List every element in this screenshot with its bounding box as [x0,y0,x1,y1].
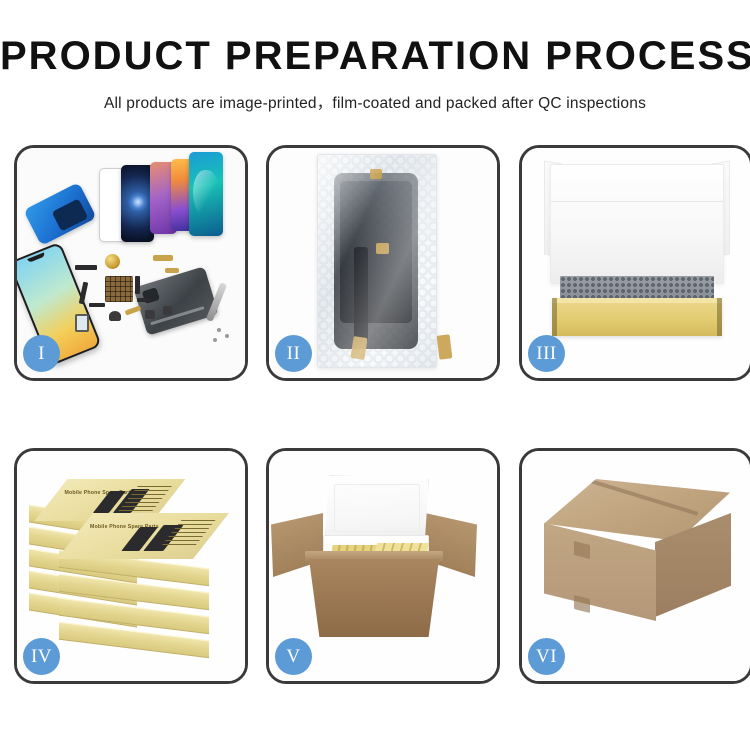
step-badge-2: II [275,335,312,372]
step-badge-4: IV [23,638,60,675]
flex-cable-1-icon [153,255,173,261]
part-bar-2-icon [79,282,88,305]
step-panel-2[interactable]: II [266,145,500,381]
part-bar-3-icon [89,303,105,307]
bubble-bag-icon [317,154,437,368]
part-bar-1-icon [75,265,97,270]
foam-lid-icon [325,475,429,541]
connector-icon [75,314,89,332]
step-badge-5: V [275,638,312,675]
white-foam-sheet-icon [550,164,724,284]
carton-body-icon [309,559,439,637]
step-panel-1[interactable]: I [14,145,248,381]
small-chip-2-icon [109,311,121,321]
chip-grid-icon [105,276,133,302]
part-bar-4-icon [135,276,140,294]
step-badge-1: I [23,335,60,372]
step-badge-3: III [528,335,565,372]
page-subtitle: All products are image-printed，film-coat… [0,91,750,113]
step-badge-6: VI [528,638,565,675]
flex-cable-3-icon [125,305,142,315]
step-panel-4[interactable]: Mobile Phone Spare Parts Mobile Phone Sp… [14,448,248,684]
step-panel-3[interactable]: III [519,145,750,381]
carton-front-face-icon [544,523,656,621]
step-panel-5[interactable]: V [266,448,500,684]
small-chip-1-icon [145,310,155,319]
page-title: PRODUCT PREPARATION PROCESS [0,36,750,76]
screw-3-icon [213,338,217,342]
bag-gloss-overlay [318,155,436,367]
poster-root: PRODUCT PREPARATION PROCESS All products… [0,0,750,750]
header: PRODUCT PREPARATION PROCESS All products… [0,36,750,113]
screw-1-icon [217,328,221,332]
carton-tape-2-icon [574,595,590,613]
phone-teal-icon [189,152,223,236]
process-step-grid: I II [14,145,737,678]
screw-2-icon [225,334,229,338]
tape-4-icon [437,334,453,359]
yellow-box-base-icon [552,298,722,336]
part-bar-5-icon [137,298,151,302]
step-panel-6[interactable]: VI [519,448,750,684]
gold-component-icon [105,254,120,269]
flex-cable-2-icon [165,268,179,273]
small-chip-3-icon [163,306,172,315]
